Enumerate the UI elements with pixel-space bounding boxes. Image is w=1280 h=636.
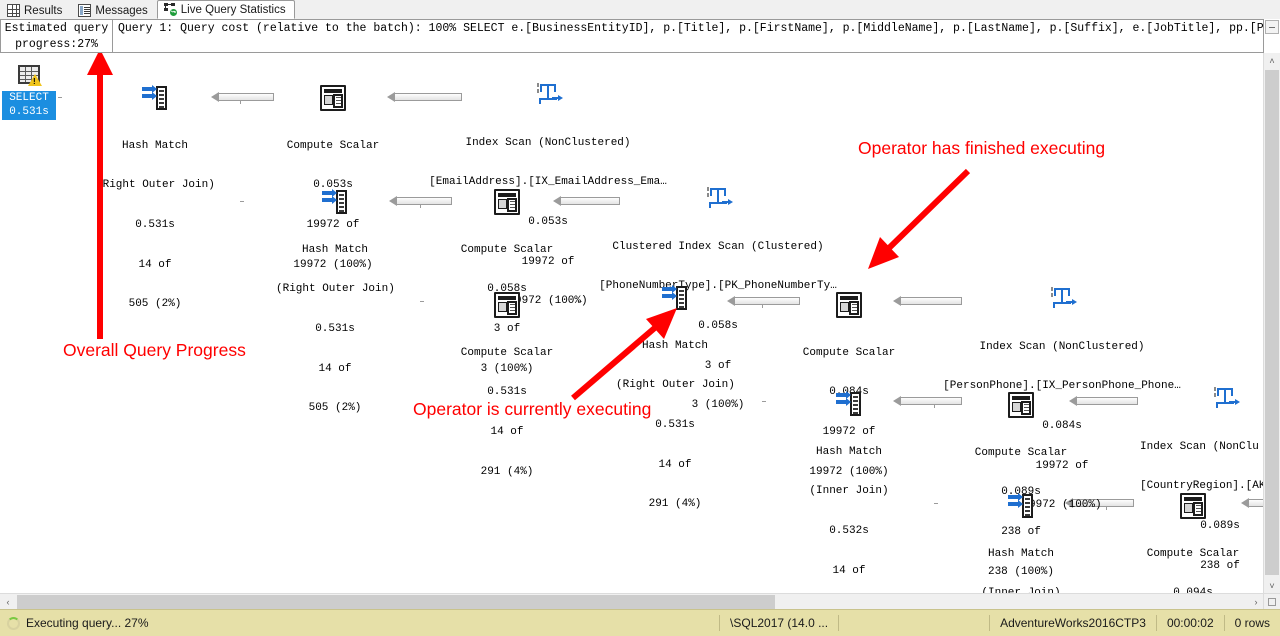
operator-name: Compute Scalar: [790, 347, 908, 360]
operator-name: Clustered Index Scan (Clustered): [584, 241, 852, 254]
estimated-query-progress-line2: progress:27%: [15, 38, 98, 51]
annotation-arrow-up: [82, 53, 118, 339]
operator-time: 0.531s: [448, 386, 566, 399]
status-bar: Executing query... 27% \SQL2017 (14.0 ..…: [0, 609, 1280, 636]
operator-name: Compute Scalar: [448, 244, 566, 257]
operator-rows-actual: 14 of: [616, 459, 734, 472]
connector-arrow: [218, 93, 274, 101]
operator-name: Compute Scalar: [274, 140, 392, 153]
collapse-query-text-button[interactable]: [1265, 20, 1279, 34]
index-scan-icon: [1049, 286, 1075, 312]
scroll-right-icon[interactable]: ›: [1248, 594, 1264, 610]
annotation-operator-currently-executing: Operator is currently executing: [413, 399, 651, 420]
compute-scalar-icon: [836, 292, 862, 318]
status-executing-text: Executing query... 27%: [26, 616, 149, 630]
grid-icon: [7, 4, 20, 17]
operator-node-compute-scalar-3[interactable]: Compute Scalar 0.531s 14 of 291 (4%): [448, 266, 566, 505]
operator-name: Compute Scalar: [1134, 548, 1252, 561]
status-row-count: 0 rows: [1224, 615, 1280, 631]
query-plan-header: Estimated query progress:27% Query 1: Qu…: [0, 19, 1280, 53]
operator-node-hash-match-6[interactable]: Hash Match: [1134, 567, 1252, 594]
operator-rows-actual: 14 of: [448, 426, 566, 439]
annotation-operator-finished-executing: Operator has finished executing: [858, 138, 1105, 159]
messages-icon: [78, 4, 91, 17]
index-scan-icon: [705, 186, 731, 212]
operator-time: 0.531s: [616, 419, 734, 432]
query-cost-line: Query 1: Query cost (relative to the bat…: [118, 22, 456, 35]
tab-results[interactable]: Results: [0, 1, 71, 19]
select-result-node[interactable]: SELECT 0.531s: [2, 65, 56, 120]
operator-name: Compute Scalar: [962, 447, 1080, 460]
index-scan-icon: [535, 82, 561, 108]
vertical-scrollbar[interactable]: ˄ ˅: [1263, 53, 1280, 594]
compute-scalar-icon: [494, 189, 520, 215]
execution-plan-canvas[interactable]: SELECT 0.531s Hash Match (Right Outer Jo…: [0, 53, 1264, 594]
operator-rows-estimated: 505 (2%): [276, 402, 394, 415]
scroll-up-icon[interactable]: ˄: [1264, 53, 1280, 69]
select-cost: 0.531s: [9, 106, 49, 118]
operator-name: Hash Match: [790, 446, 908, 459]
scroll-left-icon[interactable]: ‹: [0, 594, 16, 610]
operator-name: Hash Match: [962, 548, 1080, 561]
operator-detail: (Inner Join): [790, 485, 908, 498]
warning-triangle-icon: [28, 74, 42, 86]
operator-detail: (Right Outer Join): [276, 283, 394, 296]
operator-rows-actual: 14 of: [790, 565, 908, 578]
vertical-scroll-thumb[interactable]: [1265, 70, 1279, 575]
estimated-query-progress: Estimated query progress:27%: [0, 19, 112, 53]
estimated-query-progress-line1: Estimated query: [5, 22, 109, 35]
progress-spinner-icon: [7, 617, 20, 630]
tab-results-label: Results: [24, 5, 62, 17]
hash-match-icon: [836, 391, 862, 417]
query-sql-line: SELECT e.[BusinessEntityID], p.[Title], …: [463, 22, 1264, 35]
operator-name: Hash Match: [276, 244, 394, 257]
status-database[interactable]: AdventureWorks2016CTP3: [989, 615, 1156, 631]
connector-dashed: [240, 101, 241, 201]
tab-live-query-statistics[interactable]: Live Query Statistics: [157, 0, 295, 19]
compute-scalar-icon: [320, 85, 346, 111]
hash-match-icon: [142, 85, 168, 111]
horizontal-scrollbar[interactable]: ‹ ›: [0, 593, 1280, 610]
results-pane-tabstrip: Results Messages Live Query Statistics: [0, 0, 1280, 20]
status-elapsed-time: 00:00:02: [1156, 615, 1224, 631]
tab-live-query-statistics-label: Live Query Statistics: [181, 4, 286, 16]
scroll-down-icon[interactable]: ˅: [1264, 578, 1280, 594]
select-result-icon: [15, 65, 43, 91]
annotation-overall-query-progress: Overall Query Progress: [63, 340, 246, 361]
tab-messages-label: Messages: [95, 5, 147, 17]
status-executing-group: Executing query... 27%: [0, 616, 149, 630]
operator-node-hash-match-2[interactable]: Hash Match (Right Outer Join) 0.531s 14 …: [276, 163, 394, 442]
hash-match-icon: [322, 189, 348, 215]
hash-match-icon: [1008, 493, 1034, 519]
select-label: SELECT: [9, 92, 49, 104]
resize-grip-icon[interactable]: [1263, 594, 1280, 610]
operator-name: Compute Scalar: [448, 347, 566, 360]
query-cost-and-sql: Query 1: Query cost (relative to the bat…: [112, 19, 1264, 53]
operator-node-hash-match-5[interactable]: Hash Match (Inner Join) 0.532s 14 of 291…: [962, 467, 1080, 594]
status-user-cell: [838, 615, 989, 631]
index-scan-icon: [1212, 386, 1238, 412]
select-node-labels: SELECT 0.531s: [2, 91, 56, 120]
operator-name: Index Scan (NonClu: [1140, 441, 1264, 454]
live-query-statistics-icon: [164, 3, 177, 16]
annotation-arrow-to-finished-operator: [850, 165, 980, 275]
operator-time: 0.531s: [276, 323, 394, 336]
compute-scalar-icon: [494, 292, 520, 318]
tab-messages[interactable]: Messages: [71, 1, 156, 19]
operator-rows-actual: 14 of: [276, 363, 394, 376]
operator-time: 0.532s: [790, 525, 908, 538]
horizontal-scroll-thumb[interactable]: [17, 595, 775, 609]
operator-node-hash-match-4[interactable]: Hash Match (Inner Join) 0.532s 14 of 291…: [790, 365, 908, 594]
status-server[interactable]: \SQL2017 (14.0 ...: [719, 615, 838, 631]
operator-rows-estimated: 291 (4%): [616, 498, 734, 511]
compute-scalar-icon: [1008, 392, 1034, 418]
compute-scalar-icon: [1180, 493, 1206, 519]
operator-name: Index Scan (NonClustered): [414, 137, 682, 150]
operator-rows-estimated: 291 (4%): [448, 466, 566, 479]
annotation-arrow-to-executing-operator: [565, 302, 685, 402]
operator-name: Index Scan (NonClustered): [928, 341, 1196, 354]
